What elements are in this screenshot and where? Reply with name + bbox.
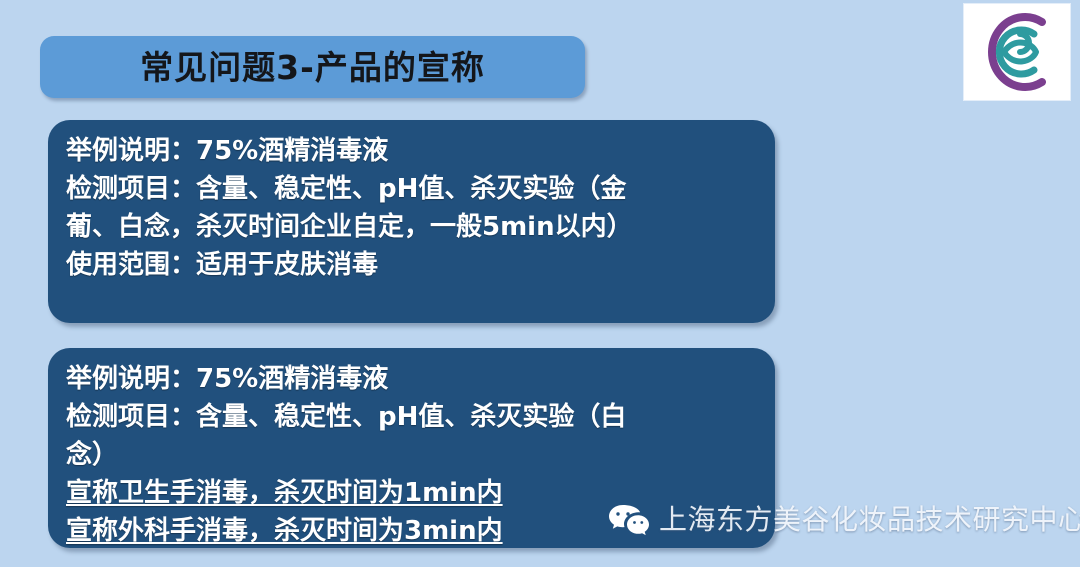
logo-c-monogram-icon: [964, 4, 1070, 100]
card2-line-2: 检测项目：含量、稳定性、pH值、杀灭实验（白: [66, 398, 759, 436]
company-logo: [964, 4, 1070, 100]
example-card-skin-disinfectant: 举例说明：75%酒精消毒液 检测项目：含量、稳定性、pH值、杀灭实验（金 葡、白…: [48, 120, 775, 323]
watermark: 上海东方美谷化妆品技术研究中心: [608, 498, 1080, 542]
card1-line-2: 检测项目：含量、稳定性、pH值、杀灭实验（金: [66, 170, 759, 208]
card1-line-1: 举例说明：75%酒精消毒液: [66, 132, 759, 170]
slide-title-box: 常见问题3-产品的宣称: [40, 36, 585, 98]
wechat-icon: [608, 503, 650, 537]
card1-line-3: 葡、白念，杀灭时间企业自定，一般5min以内）: [66, 208, 759, 246]
slide-canvas: 常见问题3-产品的宣称 举例说明：75%酒精消毒液 检测项目：含量、稳定性、pH…: [0, 0, 1080, 567]
card1-line-4: 使用范围：适用于皮肤消毒: [66, 246, 759, 284]
page-title: 常见问题3-产品的宣称: [140, 51, 485, 84]
watermark-text: 上海东方美谷化妆品技术研究中心: [659, 506, 1080, 534]
card2-line-1: 举例说明：75%酒精消毒液: [66, 360, 759, 398]
card2-line-3: 念）: [66, 436, 759, 474]
